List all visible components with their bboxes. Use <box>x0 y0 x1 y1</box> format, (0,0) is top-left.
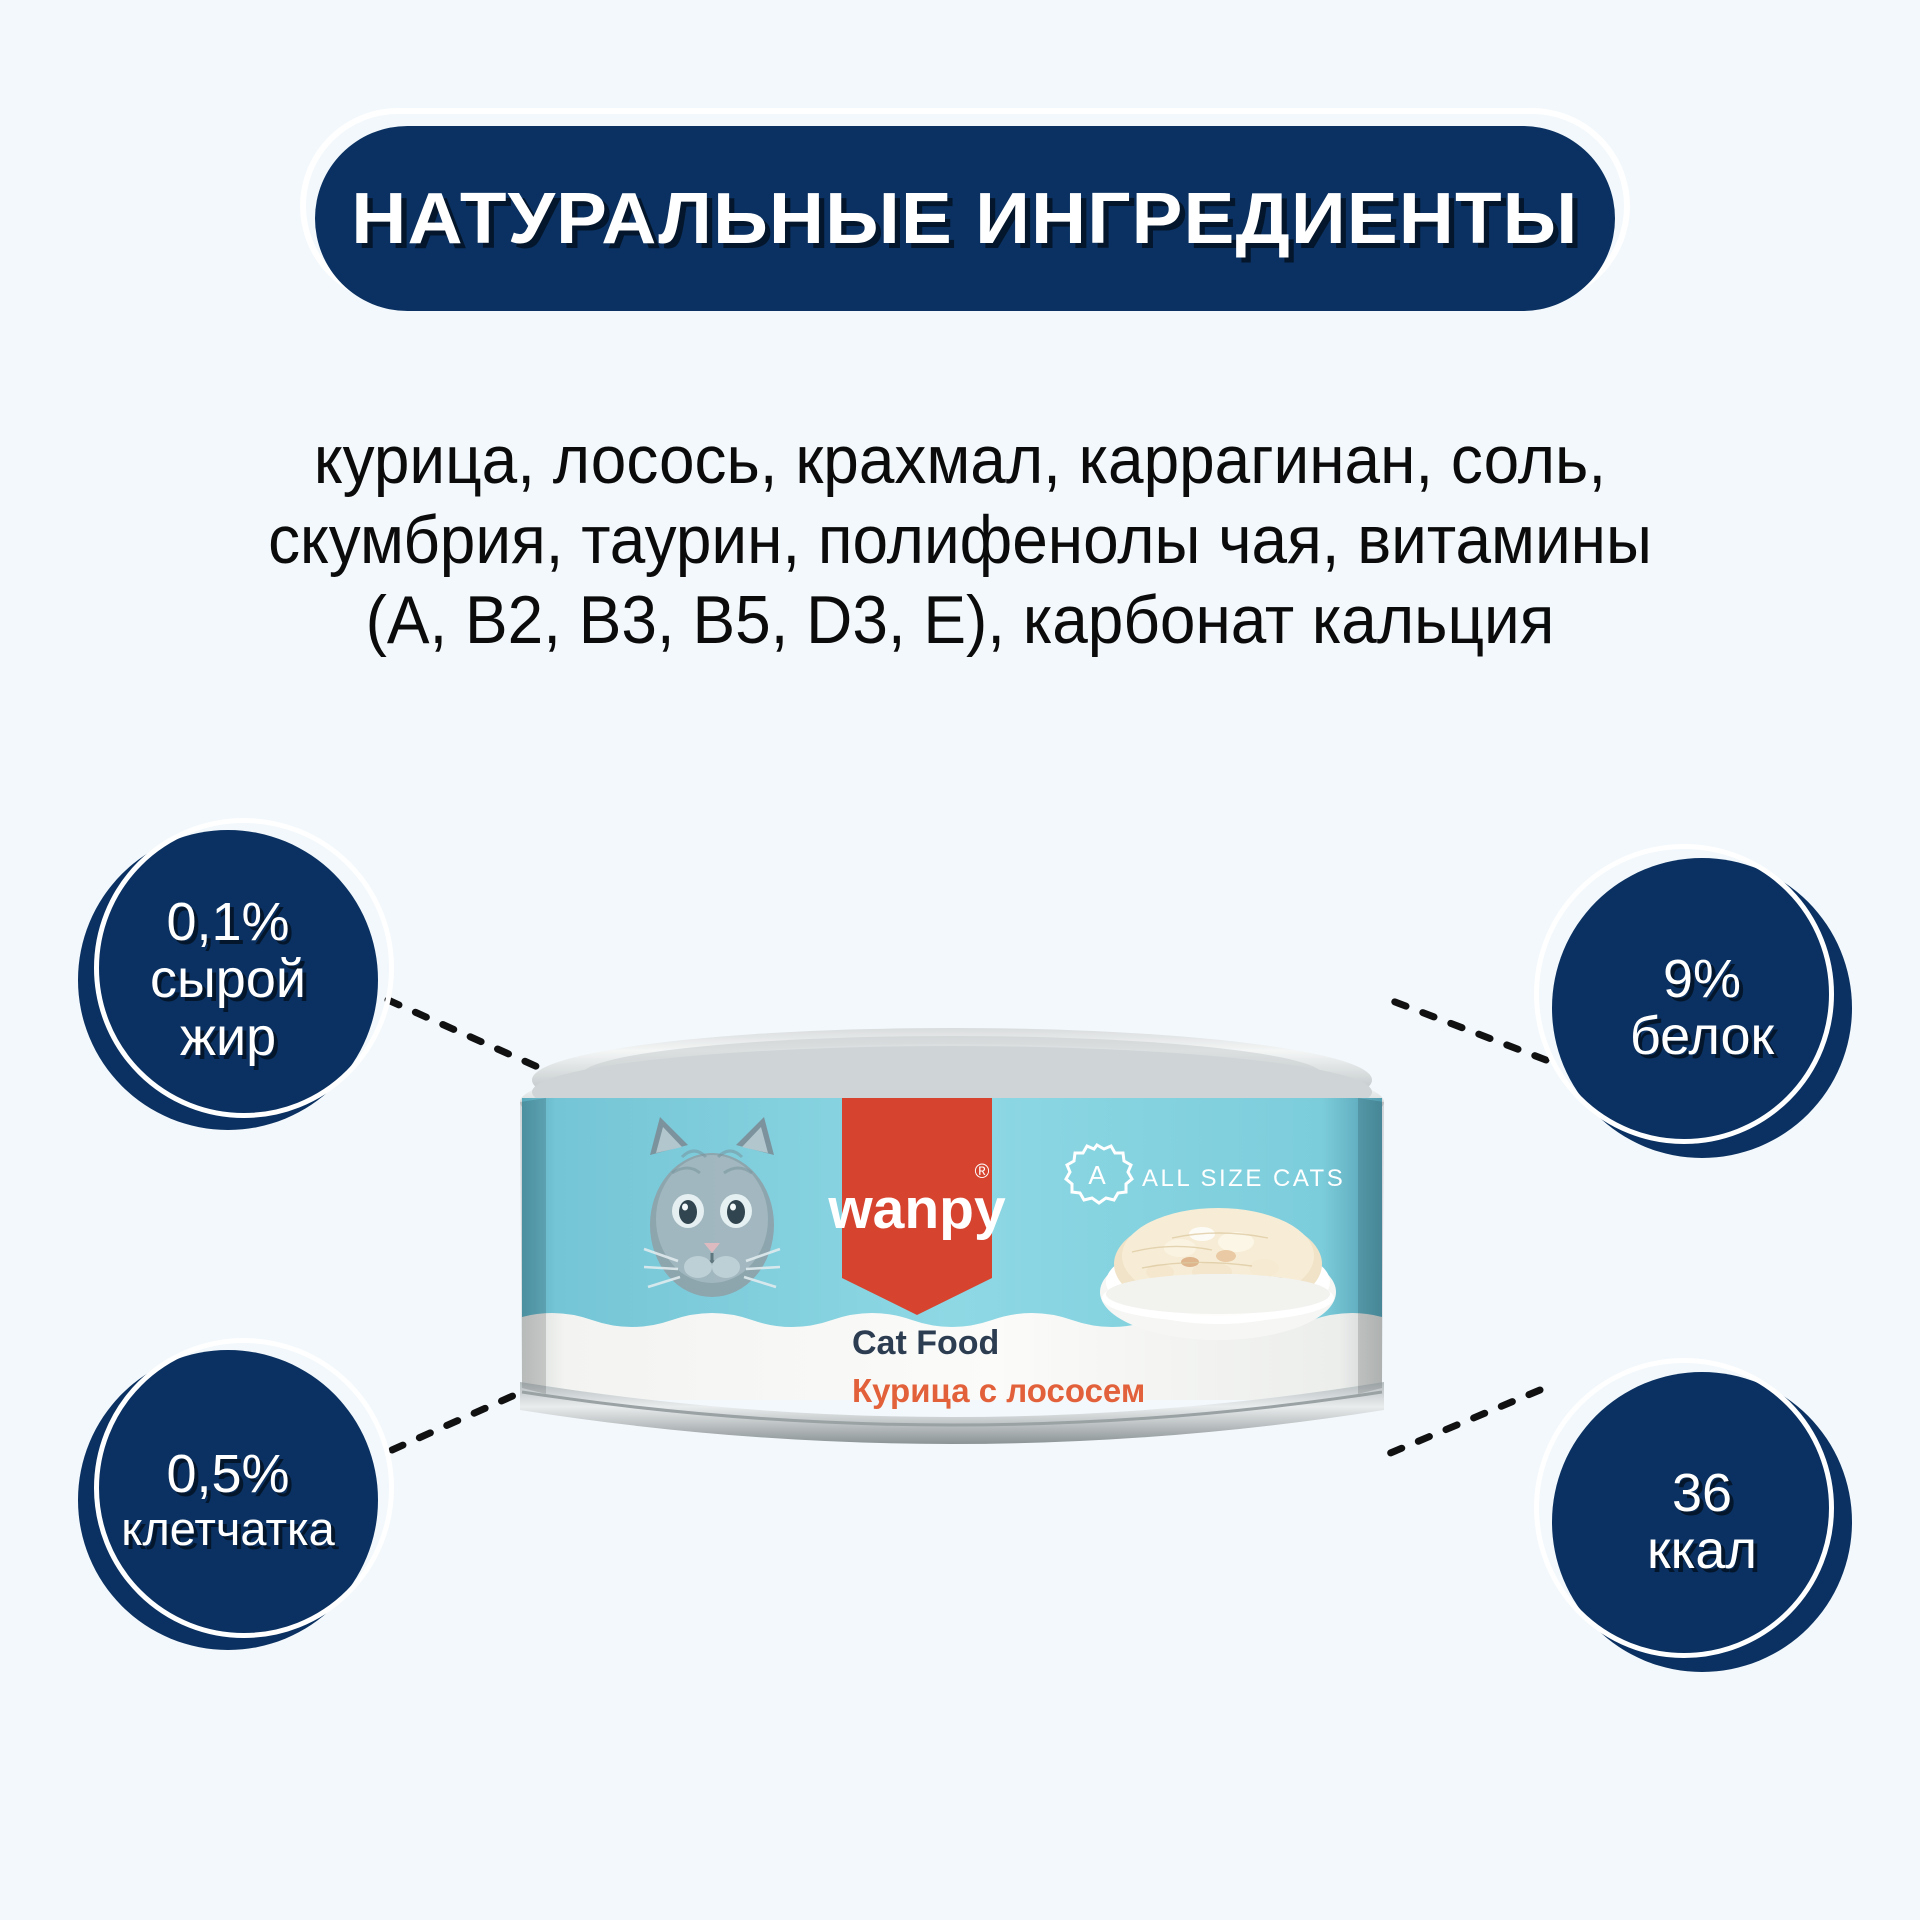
can-flavor: Курица с лососем <box>852 1372 1145 1409</box>
registered-mark: ® <box>975 1161 990 1183</box>
can-brand-text: wanpy <box>827 1177 1006 1241</box>
badge-calories: 36 ккал <box>1552 1372 1852 1672</box>
badge-protein: 9% белок <box>1552 858 1852 1158</box>
badge-value: 36 <box>1672 1465 1732 1522</box>
badge-fiber: 0,5% клетчатка <box>78 1350 378 1650</box>
product-can-image: wanpy ® A ALL SIZE CATS <box>512 1020 1392 1490</box>
badge-label-line-1: белок <box>1630 1008 1774 1065</box>
badge-label-line-2: жир <box>180 1009 276 1066</box>
svg-text:A: A <box>1088 1160 1106 1190</box>
all-size-cats-text: ALL SIZE CATS <box>1142 1165 1345 1192</box>
badge-label-line-1: ккал <box>1647 1522 1757 1579</box>
badge-crude-fat: 0,1% сырой жир <box>78 830 378 1130</box>
badge-value: 9% <box>1663 951 1741 1008</box>
badge-label-line-1: клетчатка <box>121 1504 334 1554</box>
badge-label-line-1: сырой <box>150 951 306 1008</box>
badge-value: 0,1% <box>166 894 289 951</box>
can-product-type: Cat Food <box>852 1324 999 1362</box>
badge-value: 0,5% <box>166 1446 289 1503</box>
